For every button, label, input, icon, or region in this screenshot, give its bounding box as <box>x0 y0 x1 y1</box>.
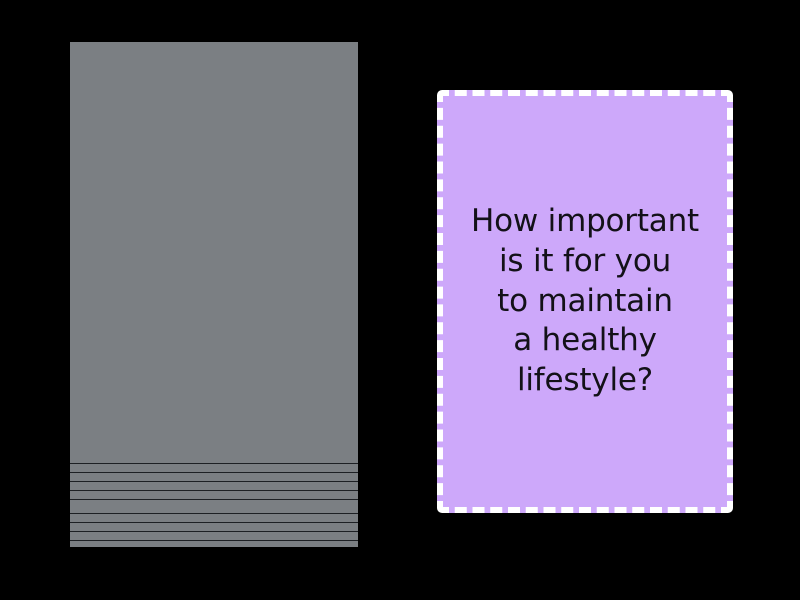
list-item[interactable] <box>70 482 358 491</box>
list-item[interactable] <box>70 523 358 532</box>
list-item[interactable] <box>70 450 358 464</box>
list-item[interactable] <box>70 541 358 547</box>
list-item[interactable] <box>70 464 358 473</box>
list-item[interactable] <box>70 532 358 541</box>
list-item[interactable] <box>70 473 358 482</box>
question-card[interactable]: How important is it for you to maintain … <box>437 90 733 513</box>
list-item[interactable] <box>70 514 358 523</box>
content-panel-body <box>70 42 358 450</box>
content-panel-row-list[interactable] <box>70 450 358 547</box>
content-panel[interactable] <box>70 42 358 547</box>
screen-root: How important is it for you to maintain … <box>0 0 800 600</box>
question-text: How important is it for you to maintain … <box>443 202 727 400</box>
list-item[interactable] <box>70 500 358 514</box>
list-item[interactable] <box>70 491 358 500</box>
